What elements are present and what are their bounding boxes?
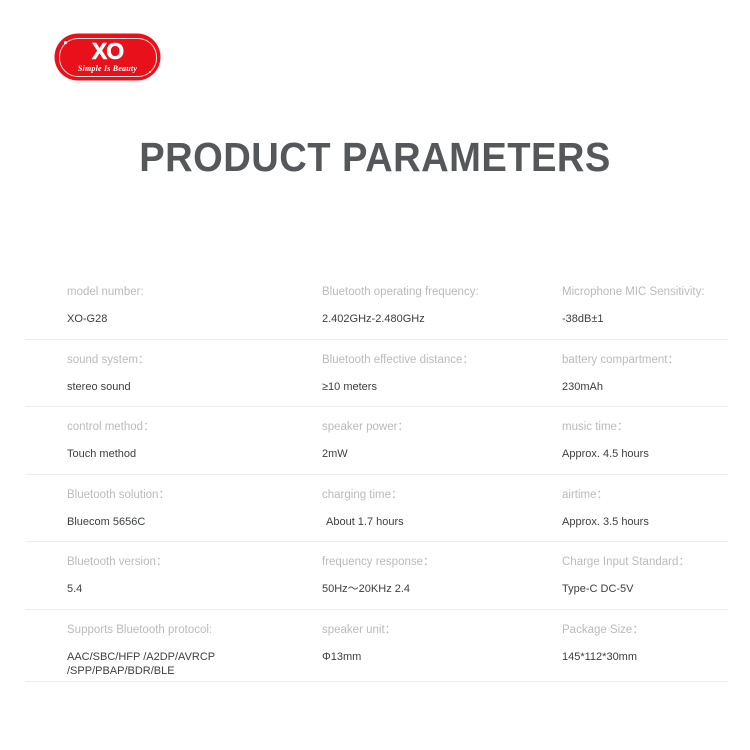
- spec-cell: Bluetooth effective distance： ≥10 meters: [322, 340, 552, 394]
- spec-value: 50Hz～20KHz 2.4: [322, 569, 552, 596]
- spec-cell: Charge Input Standard： Type-C DC-5V: [562, 542, 742, 596]
- spec-value: Approx. 3.5 hours: [562, 502, 742, 529]
- spec-cell: model number: XO-G28: [67, 272, 317, 326]
- table-row: model number: XO-G28 Bluetooth operating…: [25, 272, 728, 340]
- spec-value: 230mAh: [562, 367, 742, 394]
- spec-cell: control method： Touch method: [67, 407, 317, 461]
- table-row: Bluetooth solution： Bluecom 5656C chargi…: [25, 475, 728, 543]
- spec-label: airtime：: [562, 475, 742, 502]
- spec-label: Bluetooth effective distance：: [322, 340, 552, 367]
- table-row: Supports Bluetooth protocol: AAC/SBC/HFP…: [25, 610, 728, 682]
- spec-label: speaker power：: [322, 407, 552, 434]
- spec-value: -38dB±1: [562, 299, 742, 326]
- spec-cell: Bluetooth version： 5.4: [67, 542, 317, 596]
- spec-value: AAC/SBC/HFP /A2DP/AVRCP /SPP/PBAP/BDR/BL…: [67, 637, 317, 678]
- spec-cell: Package Size： 145*112*30mm: [562, 610, 742, 664]
- spec-label: Supports Bluetooth protocol:: [67, 610, 317, 637]
- spec-value: ≥10 meters: [322, 367, 552, 394]
- logo-tagline: Simple Is Beauty: [55, 64, 160, 73]
- spec-value: 145*112*30mm: [562, 637, 742, 664]
- spec-value: XO-G28: [67, 299, 317, 326]
- spec-label: music time：: [562, 407, 742, 434]
- spec-cell: battery compartment： 230mAh: [562, 340, 742, 394]
- page-title: PRODUCT PARAMETERS: [26, 134, 724, 181]
- table-row: sound system： stereo sound Bluetooth eff…: [25, 340, 728, 408]
- spec-label: frequency response：: [322, 542, 552, 569]
- spec-value: Type-C DC-5V: [562, 569, 742, 596]
- spec-value: 5.4: [67, 569, 317, 596]
- brand-logo: XO Simple Is Beauty: [55, 34, 160, 80]
- spec-value: Bluecom 5656C: [67, 502, 317, 529]
- spec-label: Bluetooth version：: [67, 542, 317, 569]
- spec-cell: airtime： Approx. 3.5 hours: [562, 475, 742, 529]
- spec-label: sound system：: [67, 340, 317, 367]
- logo-wordmark: XO: [55, 39, 160, 63]
- spec-label: charging time：: [322, 475, 552, 502]
- spec-cell: Bluetooth solution： Bluecom 5656C: [67, 475, 317, 529]
- spec-cell: charging time： About 1.7 hours: [322, 475, 552, 529]
- spec-label: Bluetooth operating frequency:: [322, 272, 552, 299]
- spec-label: Bluetooth solution：: [67, 475, 317, 502]
- spec-cell: Bluetooth operating frequency: 2.402GHz-…: [322, 272, 552, 326]
- spec-label: Microphone MIC Sensitivity:: [562, 272, 742, 299]
- spec-value: Approx. 4.5 hours: [562, 434, 742, 461]
- spec-value: About 1.7 hours: [322, 502, 552, 529]
- product-parameters-table: model number: XO-G28 Bluetooth operating…: [25, 272, 728, 682]
- spec-label: model number:: [67, 272, 317, 299]
- spec-cell: Microphone MIC Sensitivity: -38dB±1: [562, 272, 742, 326]
- spec-label: speaker unit：: [322, 610, 552, 637]
- spec-cell: speaker unit： Φ13mm: [322, 610, 552, 664]
- spec-label: battery compartment：: [562, 340, 742, 367]
- spec-cell: music time： Approx. 4.5 hours: [562, 407, 742, 461]
- table-row: control method： Touch method speaker pow…: [25, 407, 728, 475]
- spec-cell: frequency response： 50Hz～20KHz 2.4: [322, 542, 552, 596]
- spec-value: 2mW: [322, 434, 552, 461]
- spec-value: 2.402GHz-2.480GHz: [322, 299, 552, 326]
- spec-label: Charge Input Standard：: [562, 542, 742, 569]
- spec-cell: sound system： stereo sound: [67, 340, 317, 394]
- spec-value: Touch method: [67, 434, 317, 461]
- spec-cell: Supports Bluetooth protocol: AAC/SBC/HFP…: [67, 610, 317, 678]
- spec-value: stereo sound: [67, 367, 317, 394]
- spec-label: Package Size：: [562, 610, 742, 637]
- spec-label: control method：: [67, 407, 317, 434]
- spec-cell: speaker power： 2mW: [322, 407, 552, 461]
- table-row: Bluetooth version： 5.4 frequency respons…: [25, 542, 728, 610]
- spec-value: Φ13mm: [322, 637, 552, 664]
